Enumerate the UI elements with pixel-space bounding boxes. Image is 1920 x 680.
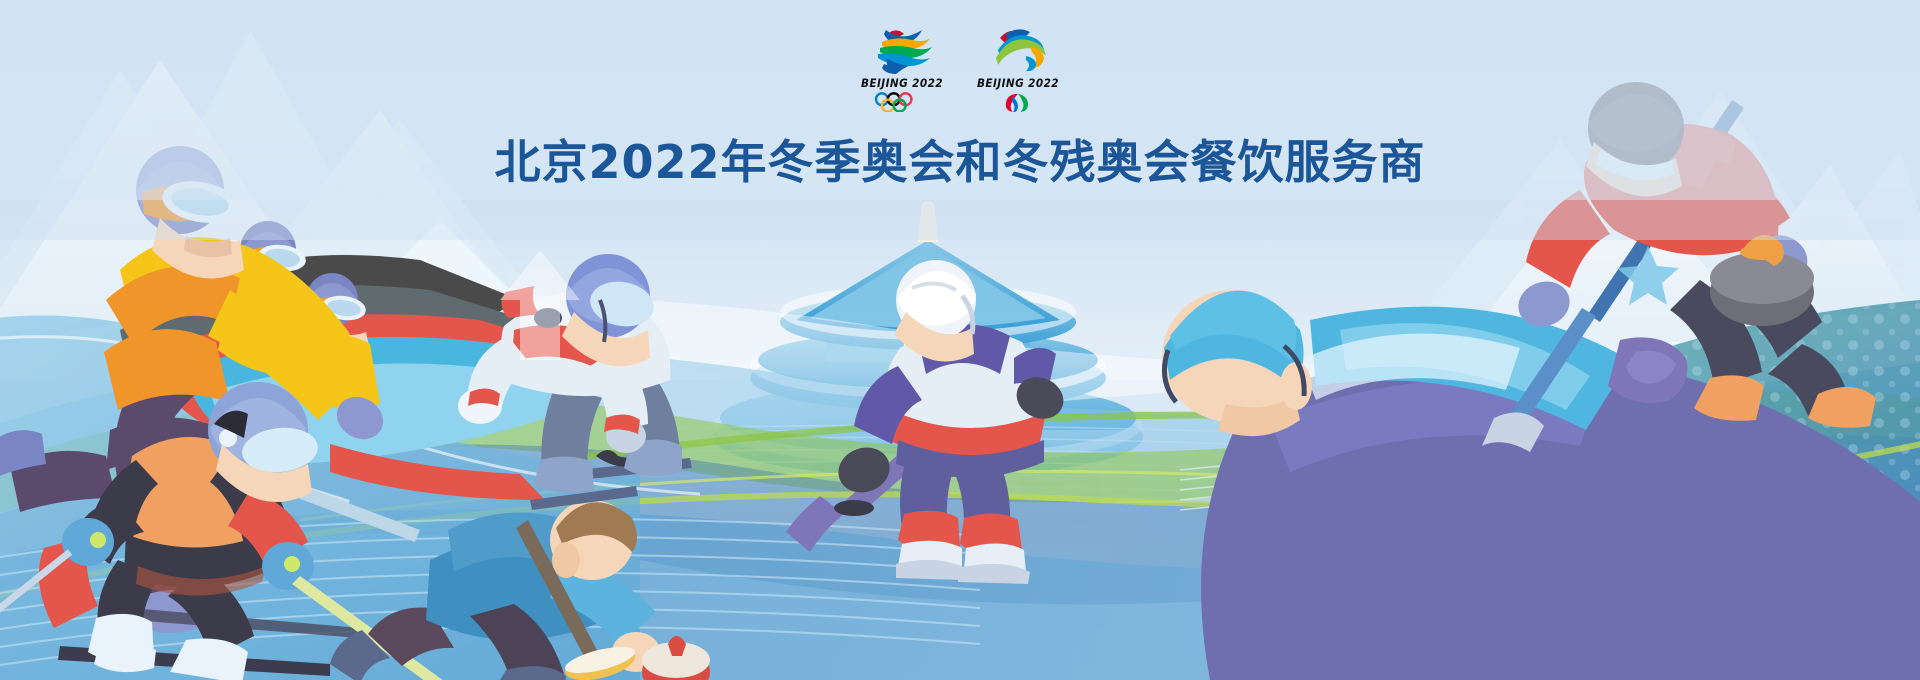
paralympic-agitos-icon [987,92,1049,112]
olympic-banner: BEIJING 2022 [0,0,1920,680]
beijing-2022-paralympic-emblem-icon [986,24,1050,76]
paralympic-logo-unit[interactable]: BEIJING 2022 [977,24,1059,112]
page-title: 北京2022年冬季奥会和冬残奥会餐饮服务商 [494,126,1425,192]
paralympic-wordmark: BEIJING 2022 [977,78,1059,91]
olympic-rings-icon [871,92,933,112]
olympic-wordmark: BEIJING 2022 [861,78,943,91]
olympic-logo-unit[interactable]: BEIJING 2022 [861,24,943,112]
beijing-2022-olympic-emblem-icon [870,24,934,76]
logo-group: BEIJING 2022 [861,24,1059,112]
